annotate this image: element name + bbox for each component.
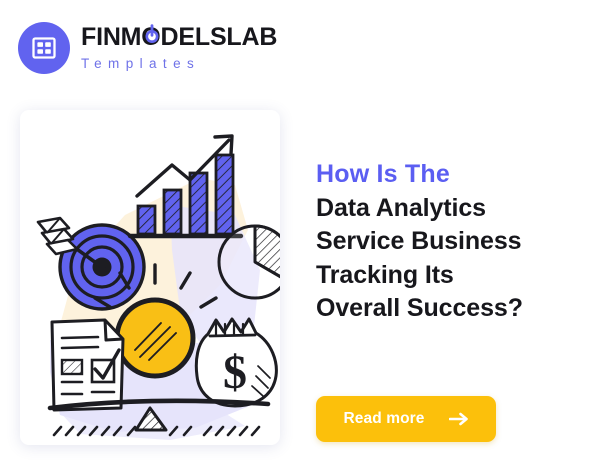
headline-main: Data Analytics Service Business Tracking…: [316, 192, 582, 326]
headline-line-2: Service Business: [316, 225, 582, 259]
headline-line-1: Data Analytics: [316, 192, 582, 226]
pie-chart-icon: [219, 226, 280, 298]
money-bag-icon: $: [196, 319, 276, 406]
business-analytics-illustration: $: [20, 110, 280, 445]
brand-name: FINMODELSLAB: [81, 23, 277, 51]
headline-accent-line: How Is The: [316, 158, 582, 192]
brand-tagline: Templates: [81, 57, 277, 71]
read-more-button[interactable]: Read more: [316, 396, 496, 442]
arrow-right-icon: [449, 412, 469, 426]
grid-squares-icon: [18, 22, 70, 74]
headline-block: How Is The Data Analytics Service Busine…: [316, 158, 582, 326]
svg-text:$: $: [223, 346, 247, 399]
headline-line-4: Overall Success?: [316, 292, 582, 326]
checklist-document-icon: [52, 320, 123, 410]
read-more-label: Read more: [343, 410, 424, 428]
brand-name-wrapper: FINMODELSLAB: [81, 25, 277, 50]
headline-line-3: Tracking Its: [316, 259, 582, 293]
brand-wordmark: FINMODELSLAB Templates: [81, 25, 277, 71]
brand-logo[interactable]: FINMODELSLAB Templates: [18, 22, 277, 74]
